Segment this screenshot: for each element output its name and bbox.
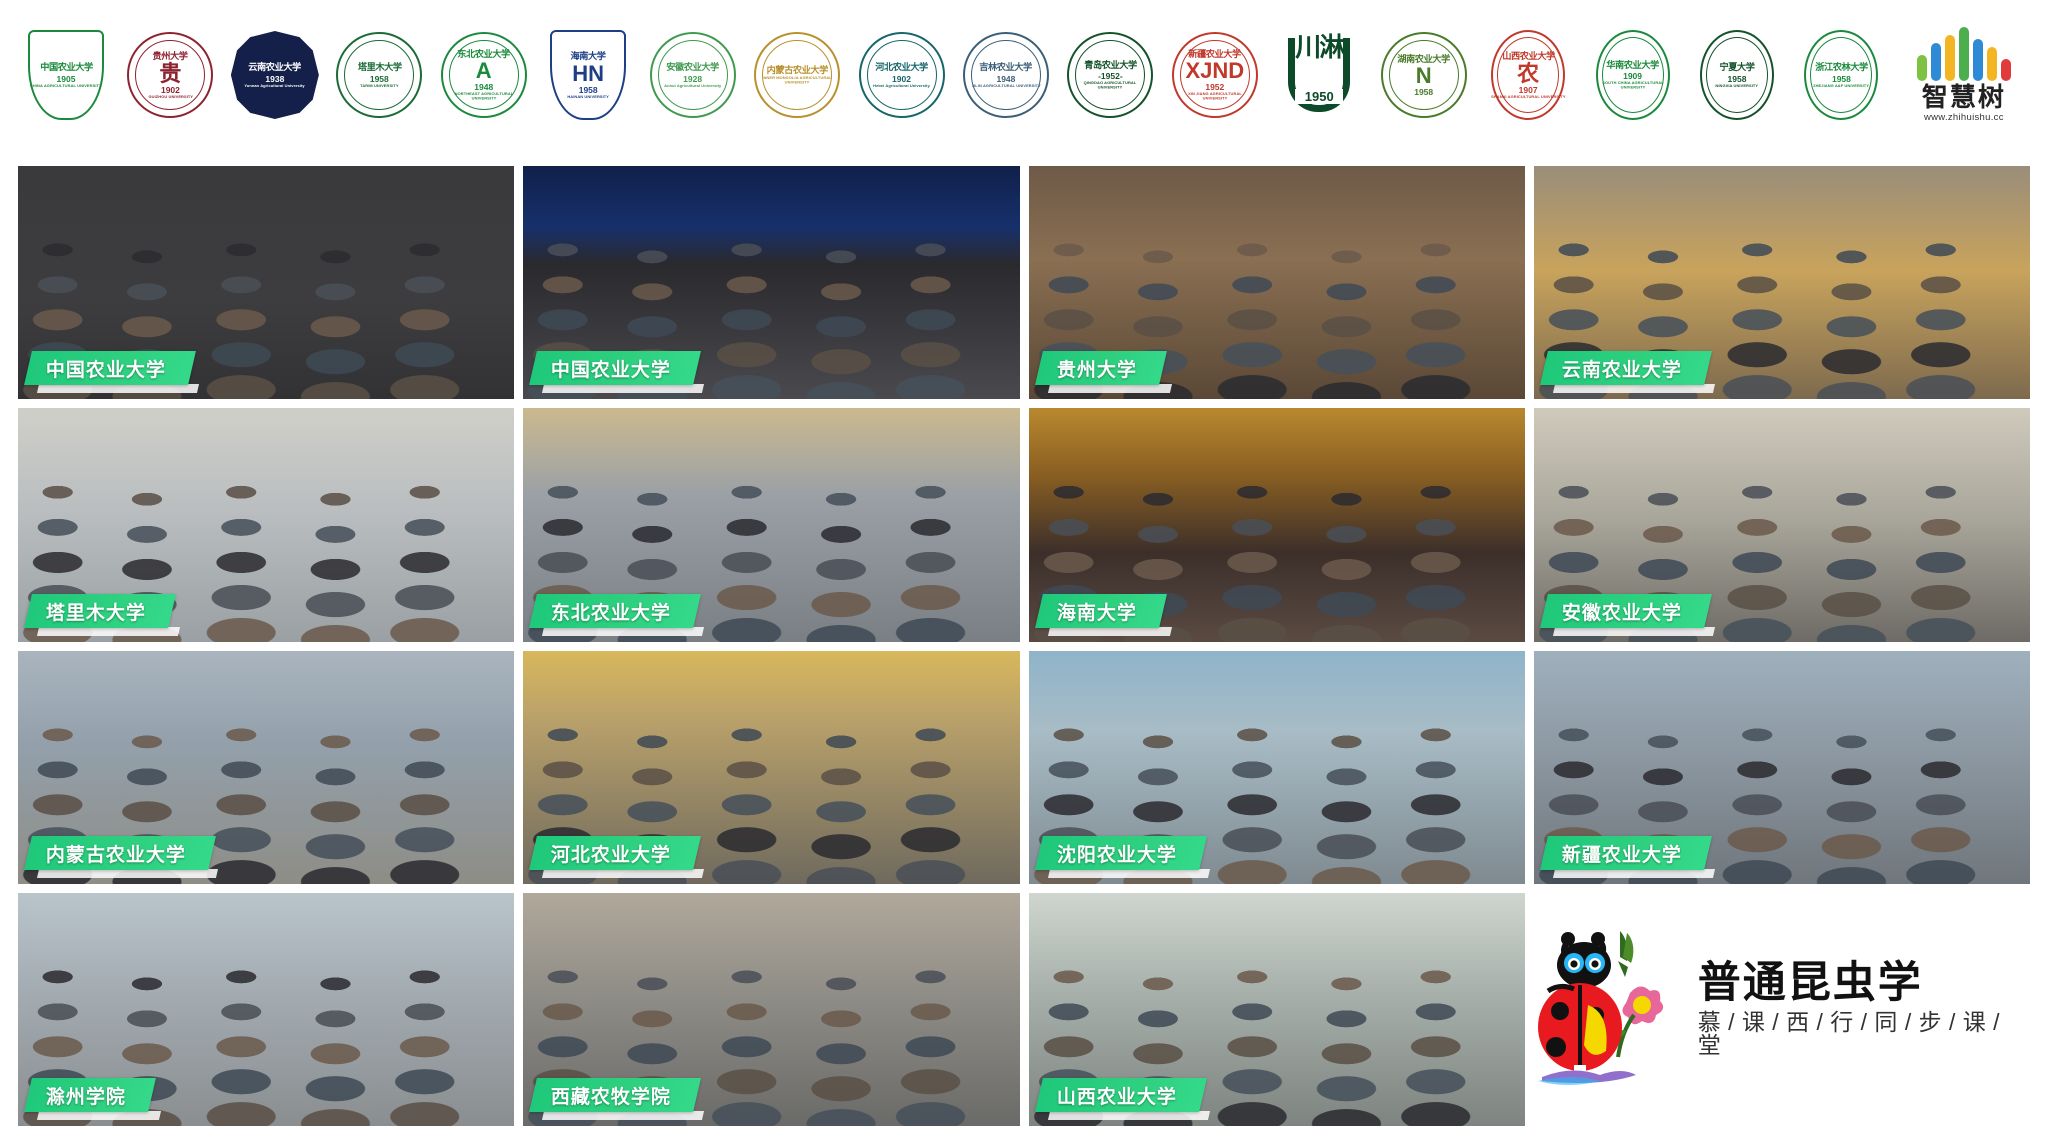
seal-name-cn: 吉林农业大学 xyxy=(980,64,1032,74)
university-name-badge: 安徽农业大学 xyxy=(1540,594,1712,628)
photo-tile[interactable]: 滁州学院 xyxy=(18,893,514,1126)
university-logo-5[interactable]: 东北农业大学A1948NORTHEAST AGRICULTURAL UNIVER… xyxy=(436,15,532,135)
seal-name-cn: 青岛农业大学 xyxy=(1084,61,1136,71)
hunan-agri-seal-icon: 湖南农业大学N1958 xyxy=(1378,29,1470,121)
university-name-label: 西藏农牧学院 xyxy=(551,1082,671,1109)
university-name-badge: 东北农业大学 xyxy=(529,594,701,628)
university-name-label: 河北农业大学 xyxy=(551,839,671,866)
seal-name-en: JILIN AGRICULTURAL UNIVERSITY xyxy=(971,84,1040,88)
anhui-agri-seal-icon: 安徽农业大学1928Anhui Agricultural University xyxy=(647,29,739,121)
university-name-badge: 新疆农业大学 xyxy=(1540,836,1712,870)
label-underline xyxy=(37,384,199,393)
seal-name-en: QINGDAO AGRICULTURAL UNIVERSITY xyxy=(1072,82,1149,91)
university-logo-18[interactable]: 浙江农林大学1958ZHEJIANG A&F UNIVERSITY xyxy=(1793,15,1889,135)
seal-name-en: NORTHEAST AGRICULTURAL UNIVERSITY xyxy=(445,93,522,102)
photo-tile[interactable]: 西藏农牧学院 xyxy=(523,893,1019,1126)
university-name-label: 海南大学 xyxy=(1057,597,1137,624)
seal-name-en: TARIM UNIVERSITY xyxy=(360,84,398,88)
university-name-label: 东北农业大学 xyxy=(551,597,671,624)
label-underline xyxy=(542,869,704,878)
university-name-badge: 海南大学 xyxy=(1035,594,1167,628)
seal-name-en: ZHEJIANG A&F UNIVERSITY xyxy=(1813,84,1869,88)
zhihuishu-bar-7 xyxy=(2001,59,2011,81)
seal-name-cn: 安徽农业大学 xyxy=(666,64,718,74)
university-name-badge: 沈阳农业大学 xyxy=(1035,836,1207,870)
seal-name-cn: 云南农业大学 xyxy=(249,64,301,74)
seal-glyph: 贵 xyxy=(159,63,181,85)
label-underline xyxy=(1553,869,1715,878)
seal-name-en: HAINAN UNIVERSITY xyxy=(567,95,609,99)
zhihuishu-bar-6 xyxy=(1987,47,1997,81)
course-logo-panel: 普通昆虫学慕 / 课 / 西 / 行 / 同 / 步 / 课 / 堂 xyxy=(1534,893,2030,1126)
zhihuishu-logo-icon[interactable]: 智慧树www.zhihuishu.cc xyxy=(1898,15,2030,135)
label-underline xyxy=(37,1111,161,1120)
seal-year: 1958 xyxy=(1414,88,1433,97)
seal-name-en: NINGXIA UNIVERSITY xyxy=(1716,84,1759,88)
label-underline xyxy=(37,869,218,878)
photo-tile[interactable]: 山西农业大学 xyxy=(1029,893,1525,1126)
photo-tile[interactable]: 河北农业大学 xyxy=(523,651,1019,884)
university-logo-10[interactable]: 吉林农业大学1948JILIN AGRICULTURAL UNIVERSITY xyxy=(958,15,1054,135)
university-logo-8[interactable]: 内蒙古农业大学INNER MONGOLIA AGRICULTURAL UNIVE… xyxy=(749,15,845,135)
university-logo-15[interactable]: 山西农业大学农1907SHANXI AGRICULTURAL UNIVERSIT… xyxy=(1480,15,1576,135)
university-name-label: 山西农业大学 xyxy=(1057,1082,1177,1109)
yunnan-agri-seal-icon: 云南农业大学1938Yunnan Agricultural University xyxy=(229,29,321,121)
shanxi-agri-seal-icon: 山西农业大学农1907SHANXI AGRICULTURAL UNIVERSIT… xyxy=(1482,29,1574,121)
northeast-agri-seal-icon: 东北农业大学A1948NORTHEAST AGRICULTURAL UNIVER… xyxy=(438,29,530,121)
university-name-label: 贵州大学 xyxy=(1057,355,1137,382)
seal-name-cn: 贵州大学 xyxy=(153,53,188,63)
label-underline xyxy=(542,384,704,393)
zhihuishu-bar-2 xyxy=(1931,43,1941,81)
xinjiang-agri-seal-icon: 新疆农业大学XJND1952XIN JIANG AGRICULTURAL UNI… xyxy=(1169,29,1261,121)
photo-tile[interactable]: 内蒙古农业大学 xyxy=(18,651,514,884)
label-underline xyxy=(1047,384,1171,393)
university-name-label: 新疆农业大学 xyxy=(1562,839,1682,866)
tarim-seal-icon: 塔里木大学1958TARIM UNIVERSITY xyxy=(333,29,425,121)
university-logo-3[interactable]: 云南农业大学1938Yunnan Agricultural University xyxy=(227,15,323,135)
hebei-agri-seal-icon: 河北农业大学1902Hebei Agricultural University xyxy=(856,29,948,121)
university-name-badge: 塔里木大学 xyxy=(24,594,176,628)
seal-name-en: INNER MONGOLIA AGRICULTURAL UNIVERSITY xyxy=(758,77,835,86)
label-underline xyxy=(1047,869,1209,878)
university-name-badge: 山西农业大学 xyxy=(1035,1078,1207,1112)
photo-tile[interactable]: 云南农业大学 xyxy=(1534,166,2030,399)
label-underline xyxy=(1047,1111,1209,1120)
seal-glyph: N xyxy=(1416,65,1432,87)
seal-name-cn: 宁夏大学 xyxy=(1720,64,1755,74)
photo-tile[interactable]: 塔里木大学 xyxy=(18,408,514,641)
university-name-badge: 中国农业大学 xyxy=(529,351,701,385)
seal-name-en: SHANXI AGRICULTURAL UNIVERSITY xyxy=(1491,95,1565,99)
university-logo-11[interactable]: 青岛农业大学-1952-QINGDAO AGRICULTURAL UNIVERS… xyxy=(1062,15,1158,135)
university-logo-4[interactable]: 塔里木大学1958TARIM UNIVERSITY xyxy=(331,15,427,135)
university-logo-16[interactable]: 华南农业大学1909SOUTH CHINA AGRICULTURAL UNIVE… xyxy=(1585,15,1681,135)
seal-name-en: XIN JIANG AGRICULTURAL UNIVERSITY xyxy=(1176,93,1253,102)
university-logo-2[interactable]: 贵州大学贵1902GUIZHOU UNIVERSITY xyxy=(122,15,218,135)
seal-year: 1950 xyxy=(1295,89,1343,104)
university-name-badge: 滁州学院 xyxy=(24,1078,156,1112)
university-logo-12[interactable]: 新疆农业大学XJND1952XIN JIANG AGRICULTURAL UNI… xyxy=(1167,15,1263,135)
seal-name-cn: 中国农业大学 xyxy=(40,64,92,74)
university-name-label: 滁州学院 xyxy=(46,1082,126,1109)
university-name-label: 塔里木大学 xyxy=(46,597,146,624)
seal-name-en: Anhui Agricultural University xyxy=(664,84,721,88)
photo-tile[interactable]: 中国农业大学 xyxy=(523,166,1019,399)
zhihuishu-wordmark: 智慧树 xyxy=(1922,84,2006,110)
seal-name-en: GUIZHOU UNIVERSITY xyxy=(148,95,193,99)
guizhou-seal-icon: 贵州大学贵1902GUIZHOU UNIVERSITY xyxy=(124,29,216,121)
seal-name-cn: 东北农业大学 xyxy=(458,50,510,60)
seal-name-cn: 河北农业大学 xyxy=(875,64,927,74)
seal-glyph: A xyxy=(476,60,492,82)
seal-glyph: HN xyxy=(572,63,604,85)
university-logo-14[interactable]: 湖南农业大学N1958 xyxy=(1376,15,1472,135)
course-subtitle: 慕 / 课 / 西 / 行 / 同 / 步 / 课 / 堂 xyxy=(1698,1011,2030,1057)
photo-tile[interactable]: 沈阳农业大学 xyxy=(1029,651,1525,884)
photo-tile[interactable]: 海南大学 xyxy=(1029,408,1525,641)
seal-name-cn: 华南农业大学 xyxy=(1606,61,1658,71)
seal-glyph: XJND xyxy=(1185,60,1244,82)
university-name-label: 沈阳农业大学 xyxy=(1057,839,1177,866)
university-name-label: 安徽农业大学 xyxy=(1562,597,1682,624)
university-logo-1[interactable]: 中国农业大学1905CHINA AGRICULTURAL UNIVERSITY xyxy=(18,15,114,135)
university-logo-13[interactable]: 川淋1950 xyxy=(1271,15,1367,135)
seal-name-en: Yunnan Agricultural University xyxy=(245,84,305,88)
seal-name-cn: 塔里木大学 xyxy=(357,64,401,74)
zhejiang-af-seal-icon: 浙江农林大学1958ZHEJIANG A&F UNIVERSITY xyxy=(1795,29,1887,121)
seal-name-en: CHINA AGRICULTURAL UNIVERSITY xyxy=(30,84,102,88)
zhihuishu-bar-5 xyxy=(1973,39,1983,81)
northwest-af-seal-icon: 川淋1950 xyxy=(1273,29,1365,121)
seal-name-cn: 山西农业大学 xyxy=(1502,53,1554,63)
university-name-badge: 贵州大学 xyxy=(1035,351,1167,385)
jilin-agri-seal-icon: 吉林农业大学1948JILIN AGRICULTURAL UNIVERSITY xyxy=(960,29,1052,121)
seal-name-en: SOUTH CHINA AGRICULTURAL UNIVERSITY xyxy=(1594,82,1671,91)
course-title: 普通昆虫学 xyxy=(1698,962,2030,1005)
label-underline xyxy=(542,1111,704,1120)
label-underline xyxy=(1553,384,1715,393)
seal-name-cn: 海南大学 xyxy=(571,53,606,63)
university-logo-6[interactable]: 海南大学HN1958HAINAN UNIVERSITY xyxy=(540,15,636,135)
zhihuishu-url: www.zhihuishu.cc xyxy=(1924,112,2004,123)
university-name-label: 内蒙古农业大学 xyxy=(46,839,186,866)
photo-tile[interactable]: 贵州大学 xyxy=(1029,166,1525,399)
university-name-badge: 中国农业大学 xyxy=(24,351,196,385)
inner-mongolia-agri-seal-icon: 内蒙古农业大学INNER MONGOLIA AGRICULTURAL UNIVE… xyxy=(751,29,843,121)
seal-name-cn: 湖南农业大学 xyxy=(1397,55,1449,65)
south-china-agri-seal-icon: 华南农业大学1909SOUTH CHINA AGRICULTURAL UNIVE… xyxy=(1587,29,1679,121)
university-name-badge: 河北农业大学 xyxy=(529,836,701,870)
zhihuishu-bars xyxy=(1917,27,2011,81)
photo-tile[interactable]: 新疆农业大学 xyxy=(1534,651,2030,884)
university-logo-9[interactable]: 河北农业大学1902Hebei Agricultural University xyxy=(854,15,950,135)
university-name-label: 中国农业大学 xyxy=(551,355,671,382)
zhihuishu-bar-3 xyxy=(1945,35,1955,81)
classroom-photo-grid: 中国农业大学中国农业大学贵州大学云南农业大学塔里木大学东北农业大学海南大学安徽农… xyxy=(18,166,2030,1126)
seal-glyph: 农 xyxy=(1517,63,1539,85)
qingdao-agri-seal-icon: 青岛农业大学-1952-QINGDAO AGRICULTURAL UNIVERS… xyxy=(1064,29,1156,121)
university-logo-17[interactable]: 宁夏大学1958NINGXIA UNIVERSITY xyxy=(1689,15,1785,135)
university-name-badge: 西藏农牧学院 xyxy=(529,1078,701,1112)
photo-tile[interactable]: 中国农业大学 xyxy=(18,166,514,399)
poster-root: 中国农业大学1905CHINA AGRICULTURAL UNIVERSITY贵… xyxy=(0,0,2048,1144)
ladybug-mascot-icon xyxy=(1534,919,1684,1099)
zhihuishu-bar-4 xyxy=(1959,27,1969,81)
hainan-seal-icon: 海南大学HN1958HAINAN UNIVERSITY xyxy=(542,29,634,121)
university-logo-7[interactable]: 安徽农业大学1928Anhui Agricultural University xyxy=(645,15,741,135)
seal-name-cn: 内蒙古农业大学 xyxy=(766,66,827,76)
cau-seal-icon: 中国农业大学1905CHINA AGRICULTURAL UNIVERSITY xyxy=(20,29,112,121)
photo-tile[interactable]: 东北农业大学 xyxy=(523,408,1019,641)
zhihuishu-bar-1 xyxy=(1917,55,1927,81)
butterfly-icon xyxy=(1618,931,1633,977)
ningxia-seal-icon: 宁夏大学1958NINGXIA UNIVERSITY xyxy=(1691,29,1783,121)
university-name-badge: 内蒙古农业大学 xyxy=(24,836,216,870)
course-text-block: 普通昆虫学慕 / 课 / 西 / 行 / 同 / 步 / 课 / 堂 xyxy=(1698,962,2030,1057)
seal-name-cn: 浙江农林大学 xyxy=(1815,64,1867,74)
university-logo-strip: 中国农业大学1905CHINA AGRICULTURAL UNIVERSITY贵… xyxy=(0,0,2048,150)
university-name-label: 云南农业大学 xyxy=(1562,355,1682,382)
seal-name-en: Hebei Agricultural University xyxy=(873,84,930,88)
seal-name-cn: 新疆农业大学 xyxy=(1189,50,1241,60)
photo-tile[interactable]: 安徽农业大学 xyxy=(1534,408,2030,641)
university-name-badge: 云南农业大学 xyxy=(1540,351,1712,385)
university-name-label: 中国农业大学 xyxy=(46,355,166,382)
